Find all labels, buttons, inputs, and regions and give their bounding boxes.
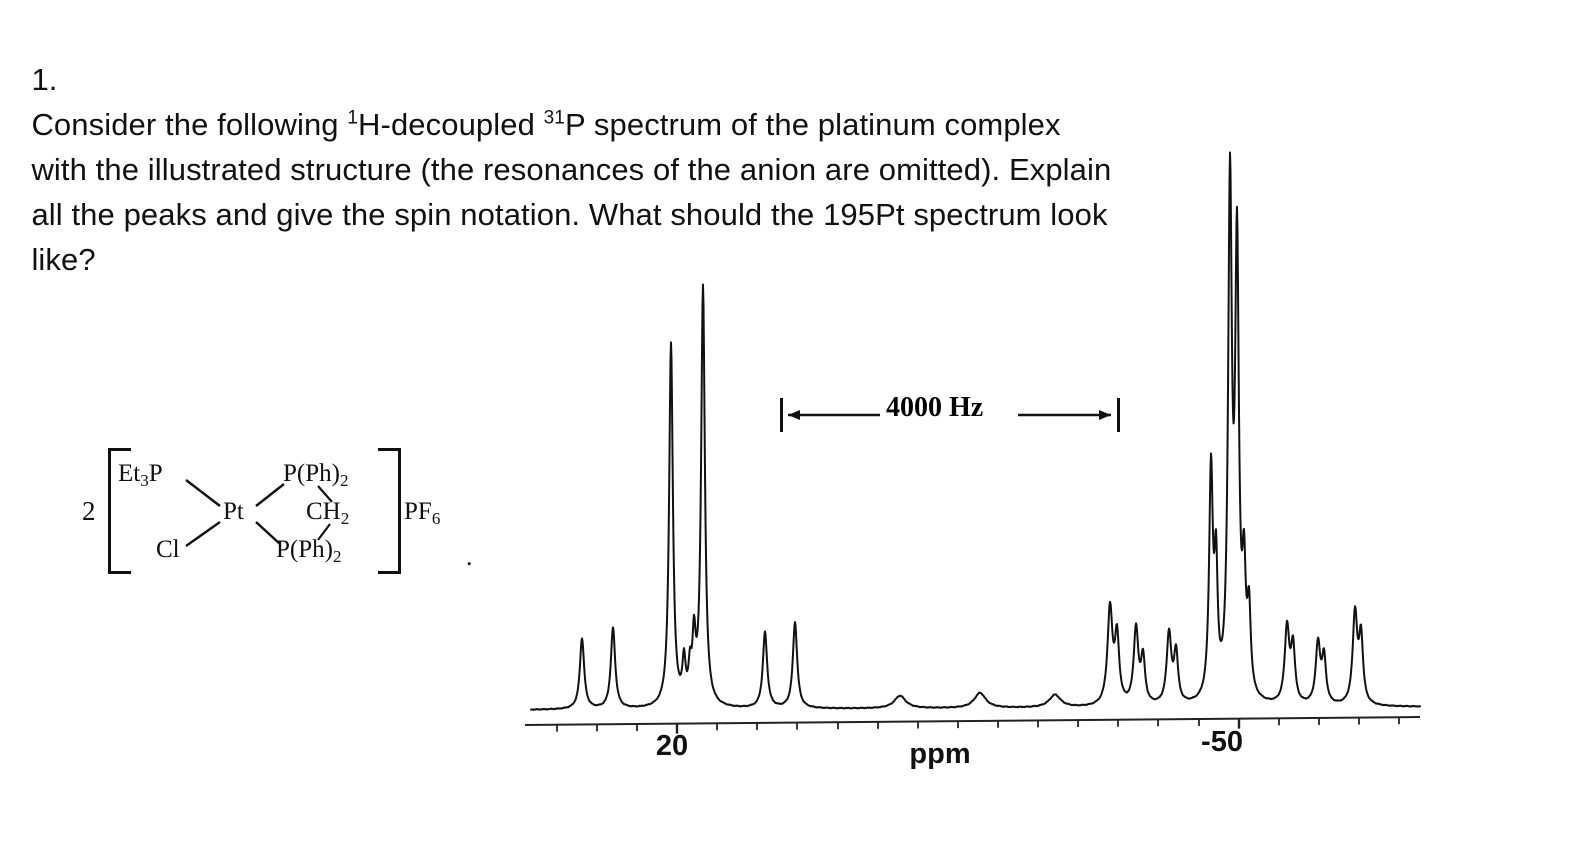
- hz-label-text: 4000 Hz: [886, 392, 983, 424]
- arrowhead-right-icon: [1099, 410, 1111, 420]
- bond-et3p-pt: [186, 480, 220, 506]
- x-axis-line: [525, 717, 1420, 725]
- bond-pph2-lower-ch2: [318, 524, 330, 540]
- bond-cl-pt: [186, 522, 220, 546]
- bond-pt-pph2-upper: [256, 484, 284, 506]
- question-text: 1. Consider the following 1H-decoupled 3…: [14, 12, 1404, 282]
- arrowhead-left-icon: [788, 410, 800, 420]
- axis-tick-label-20: 20: [656, 730, 688, 763]
- question-line1-c: P spectrum of the platinum complex: [565, 107, 1061, 142]
- superscript-p31: 31: [544, 108, 565, 129]
- axis-unit-label-ppm: ppm: [909, 738, 970, 771]
- axis-tick-label-minus50: -50: [1201, 726, 1243, 759]
- question-line3: all the peaks and give the spin notation…: [31, 197, 1107, 232]
- hz-span-annotation: 4000 Hz: [780, 392, 1125, 438]
- question-line2: with the illustrated structure (the reso…: [31, 152, 1111, 187]
- bond-pt-pph2-lower: [256, 522, 280, 544]
- bond-pph2-upper-ch2: [318, 486, 332, 502]
- chemical-structure-diagram: 2 Et3P Cl Pt P(Ph)2 CH2 P(Ph)2 PF6 .: [78, 438, 498, 588]
- question-number: 1.: [31, 62, 57, 97]
- question-line1-b: H-decoupled: [358, 107, 544, 142]
- question-line1-a: Consider the following: [31, 107, 347, 142]
- structure-bonds: [78, 438, 498, 588]
- superscript-h1: 1: [347, 108, 358, 129]
- question-line4: like?: [31, 242, 95, 277]
